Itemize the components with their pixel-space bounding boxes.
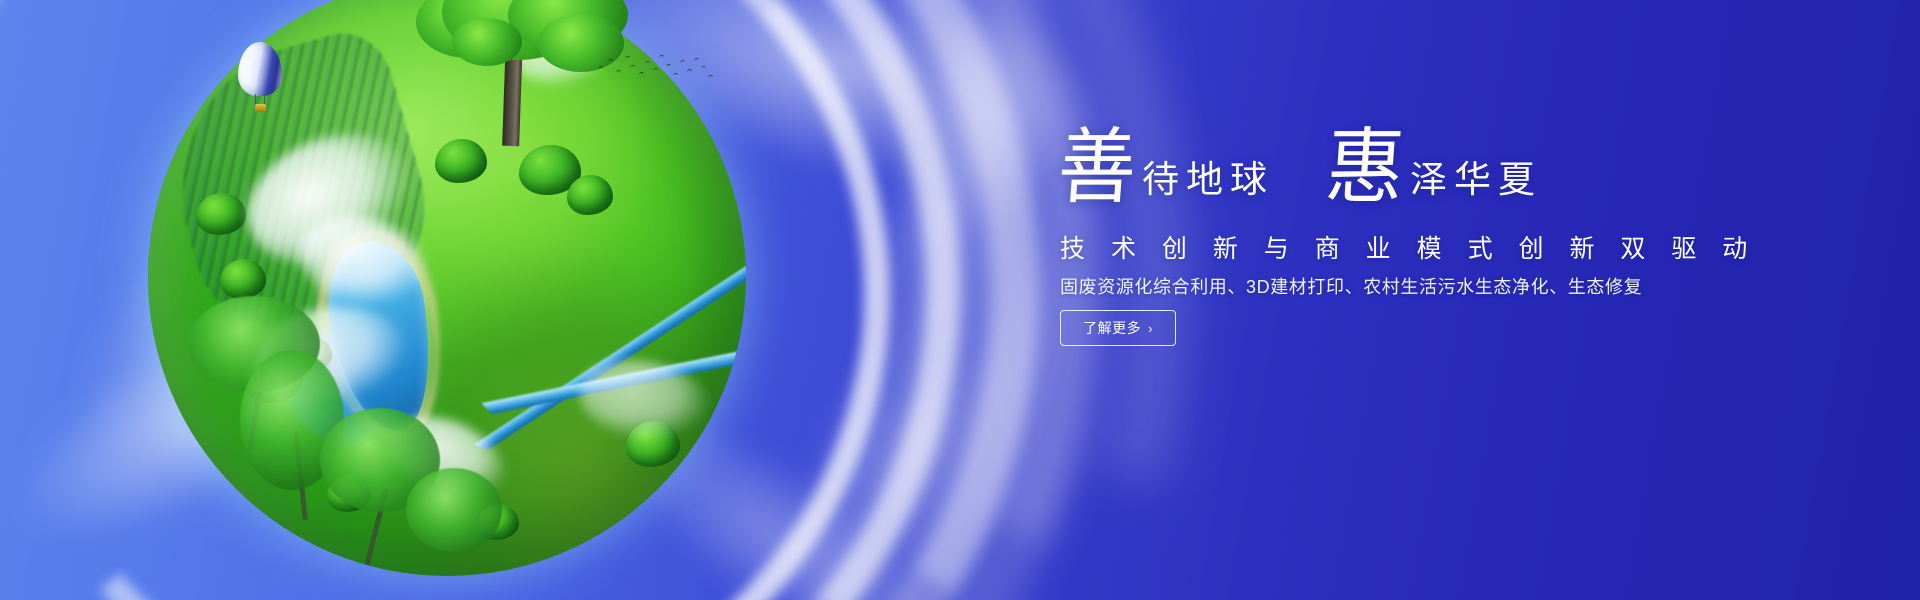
rim-tree <box>406 468 502 552</box>
tree-clump <box>567 175 613 215</box>
hero-banner: 善 待地球 惠 泽华夏 技 术 创 新 与 商 业 模 式 创 新 双 驱 动 … <box>0 0 1920 600</box>
tree-clump <box>196 193 246 235</box>
chevron-right-icon: › <box>1148 322 1153 335</box>
balloon-basket <box>255 104 266 112</box>
headline-group-2: 惠 泽华夏 <box>1326 132 1542 204</box>
headline-small-chars-1: 待地球 <box>1142 162 1274 204</box>
cloud-wisp <box>839 0 1081 407</box>
hot-air-balloon-icon <box>238 42 282 116</box>
headline: 善 待地球 惠 泽华夏 <box>1058 132 1542 204</box>
headline-large-char-2: 惠 <box>1323 130 1406 206</box>
learn-more-label: 了解更多 <box>1083 318 1141 338</box>
headline-large-char-1: 善 <box>1055 130 1138 206</box>
tree-canopy <box>452 18 522 66</box>
tree-clump <box>220 259 266 299</box>
birds-flock-icon <box>596 52 716 86</box>
headline-group-1: 善 待地球 <box>1058 132 1274 204</box>
learn-more-button[interactable]: 了解更多 › <box>1060 310 1176 346</box>
headline-small-chars-2: 泽华夏 <box>1410 162 1542 204</box>
hero-content: 善 待地球 惠 泽华夏 技 术 创 新 与 商 业 模 式 创 新 双 驱 动 … <box>1058 0 1818 600</box>
balloon-envelope <box>238 42 282 96</box>
large-tree <box>416 0 626 150</box>
subtitle: 技 术 创 新 与 商 业 模 式 创 新 双 驱 动 <box>1060 229 1757 265</box>
tagline: 固废资源化综合利用、3D建材打印、农村生活污水生态净化、生态修复 <box>1060 273 1642 299</box>
